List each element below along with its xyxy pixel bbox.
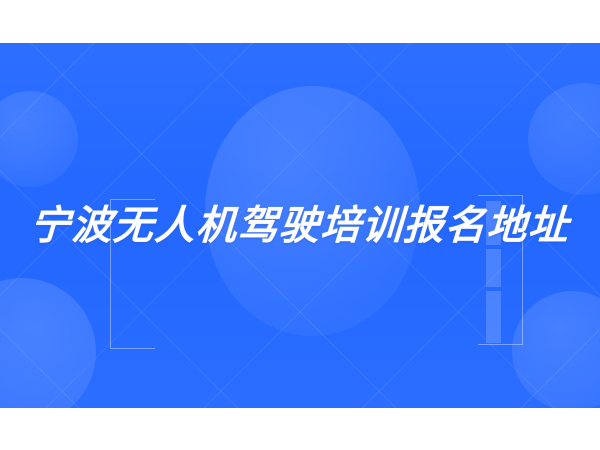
- page-canvas: 宁波无人机驾驶培训报名地址: [0, 0, 600, 450]
- banner-title: 宁波无人机驾驶培训报名地址: [29, 206, 571, 246]
- banner-title-container: 宁波无人机驾驶培训报名地址: [0, 43, 600, 408]
